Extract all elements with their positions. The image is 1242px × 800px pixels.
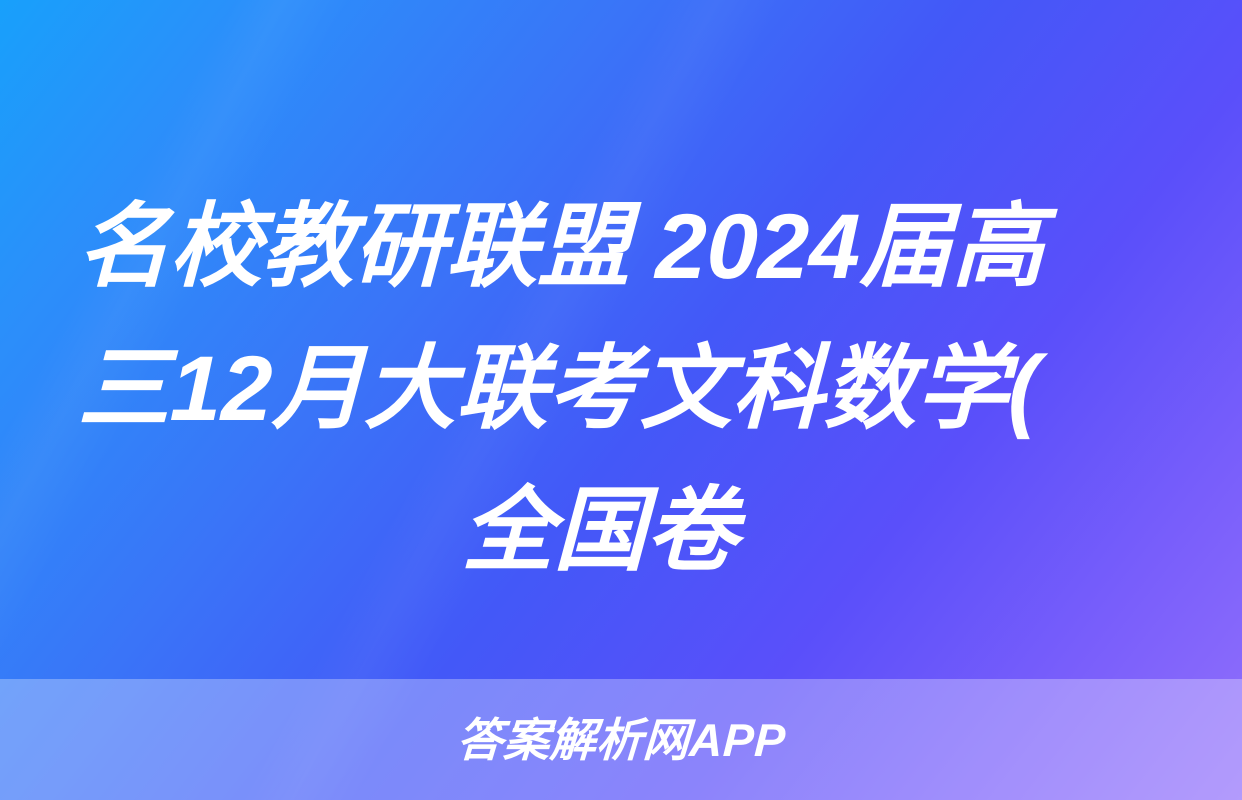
title-line-2: 三12月大联考文科数学(	[77, 318, 1165, 460]
poster-canvas: 名校教研联盟 2024届高 三12月大联考文科数学( 全国卷 答案解析网APP	[0, 0, 1242, 800]
title-line-3: 全国卷	[77, 460, 1165, 602]
footer-watermark-band: 答案解析网APP	[0, 679, 1242, 800]
app-watermark-label: 答案解析网APP	[455, 717, 786, 763]
poster-title: 名校教研联盟 2024届高 三12月大联考文科数学( 全国卷	[0, 176, 1242, 602]
title-line-1: 名校教研联盟 2024届高	[77, 176, 1165, 318]
